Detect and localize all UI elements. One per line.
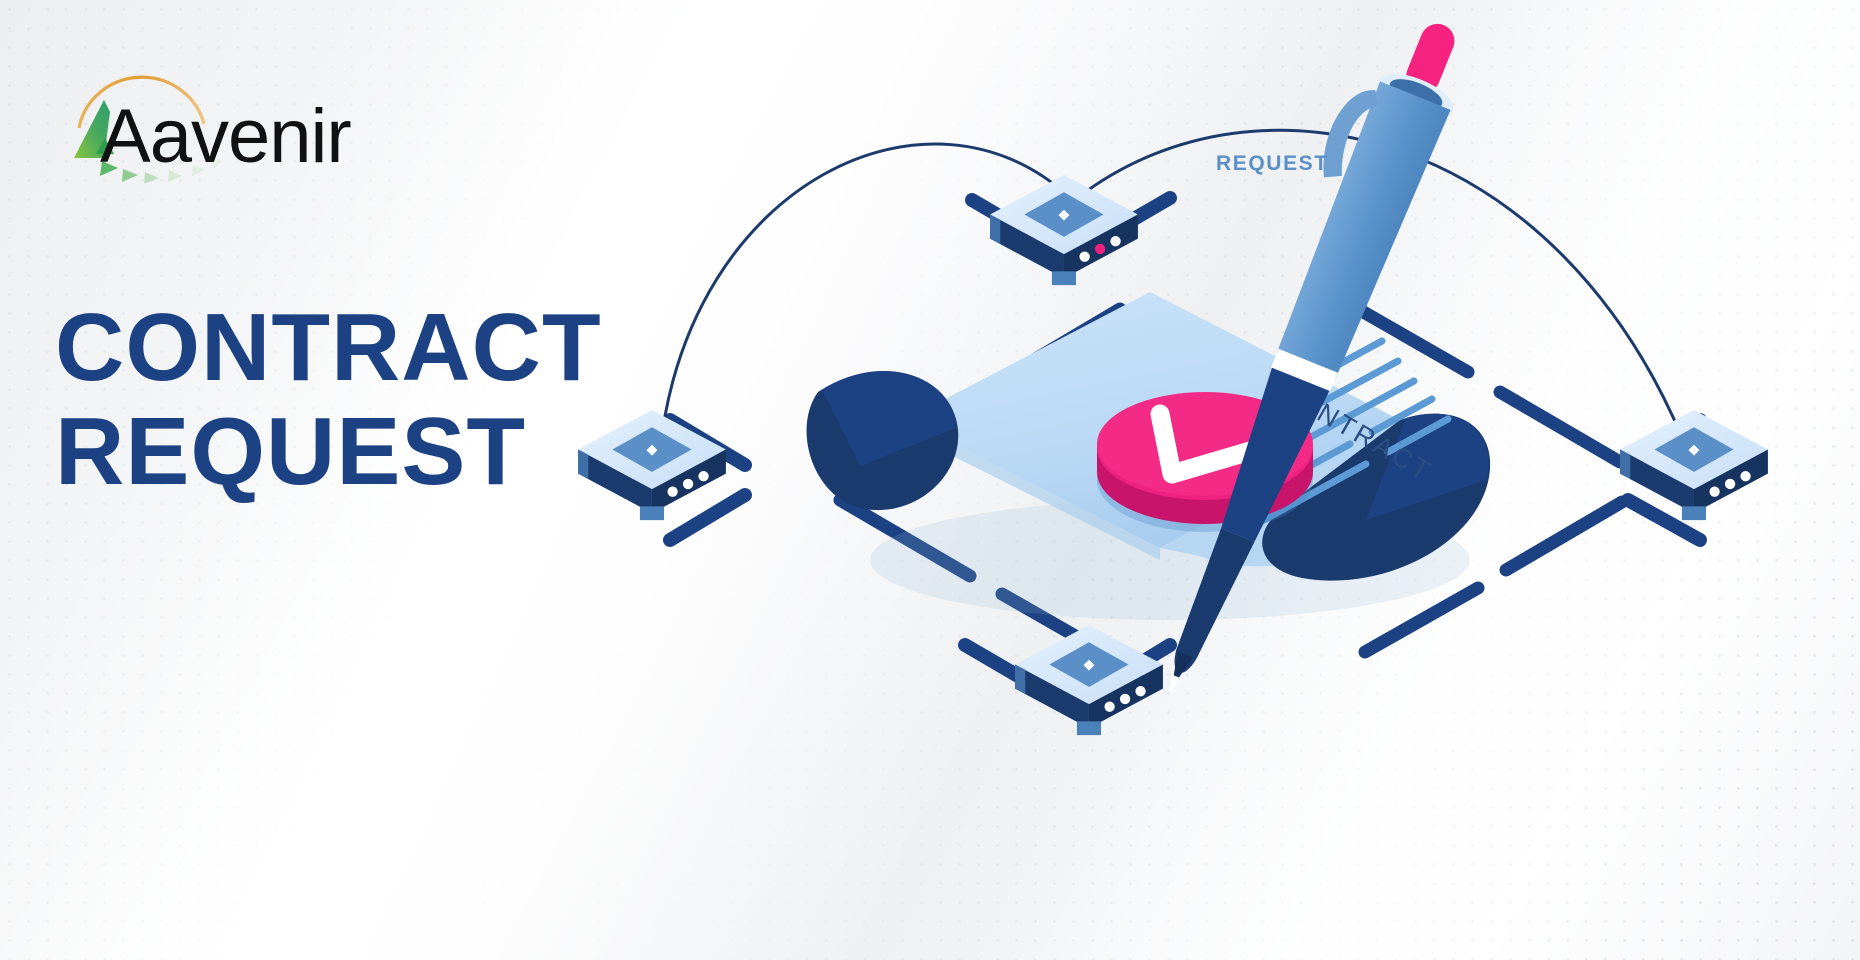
page-title-line-2: REQUEST: [55, 400, 602, 504]
contract-signing-illustration: CONTRACT: [560, 0, 1860, 960]
page-title-line-1: CONTRACT: [55, 294, 602, 401]
aavenir-logo[interactable]: Aavenir: [52, 58, 352, 183]
page-title: CONTRACT REQUEST: [55, 296, 602, 504]
chip-node-top[interactable]: [990, 175, 1138, 285]
chip-node-left[interactable]: [578, 410, 726, 520]
request-node-label: REQUEST: [1216, 152, 1329, 176]
pen-barrel: [1270, 81, 1451, 382]
chip-node-bottom[interactable]: [1015, 625, 1163, 735]
logo-wordmark: Aavenir: [100, 94, 351, 179]
banner-canvas: Aavenir CONTRACT REQUEST: [0, 0, 1860, 960]
